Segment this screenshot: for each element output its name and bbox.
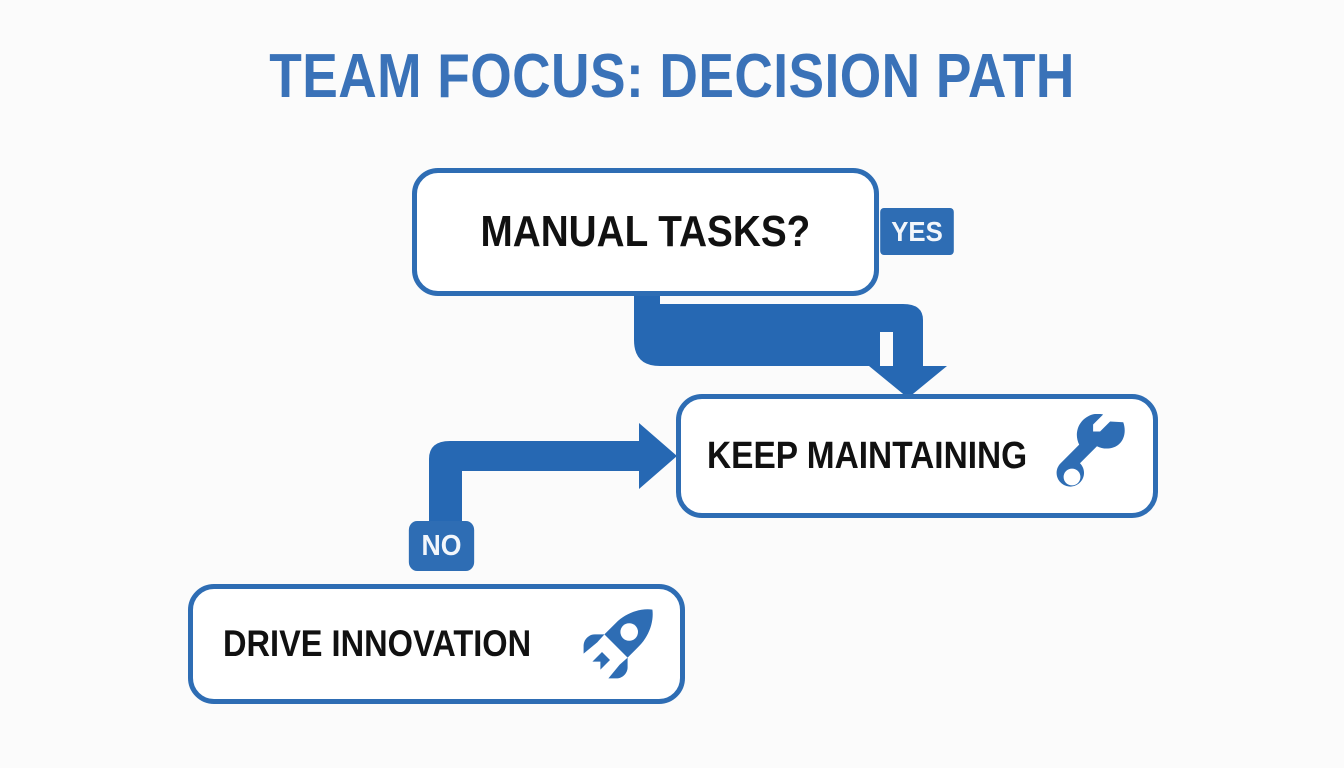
node-drive-innovation[interactable]: DRIVE INNOVATION: [188, 584, 685, 704]
wrench-icon: [1051, 414, 1135, 498]
node-manual-tasks[interactable]: MANUAL TASKS?: [412, 168, 879, 296]
node-manual-tasks-label: MANUAL TASKS?: [481, 207, 811, 257]
node-drive-innovation-label: DRIVE INNOVATION: [223, 623, 531, 665]
edge-label-no: NO: [409, 521, 474, 571]
diagram-canvas: TEAM FOCUS: DECISION PATH MANUAL TASKS? …: [0, 0, 1344, 768]
node-keep-maintaining-label: KEEP MAINTAINING: [707, 435, 1027, 478]
edge-label-yes: YES: [880, 208, 954, 255]
node-keep-maintaining[interactable]: KEEP MAINTAINING: [676, 394, 1158, 518]
rocket-icon: [578, 604, 658, 684]
edge-yes-connector: [634, 292, 947, 398]
